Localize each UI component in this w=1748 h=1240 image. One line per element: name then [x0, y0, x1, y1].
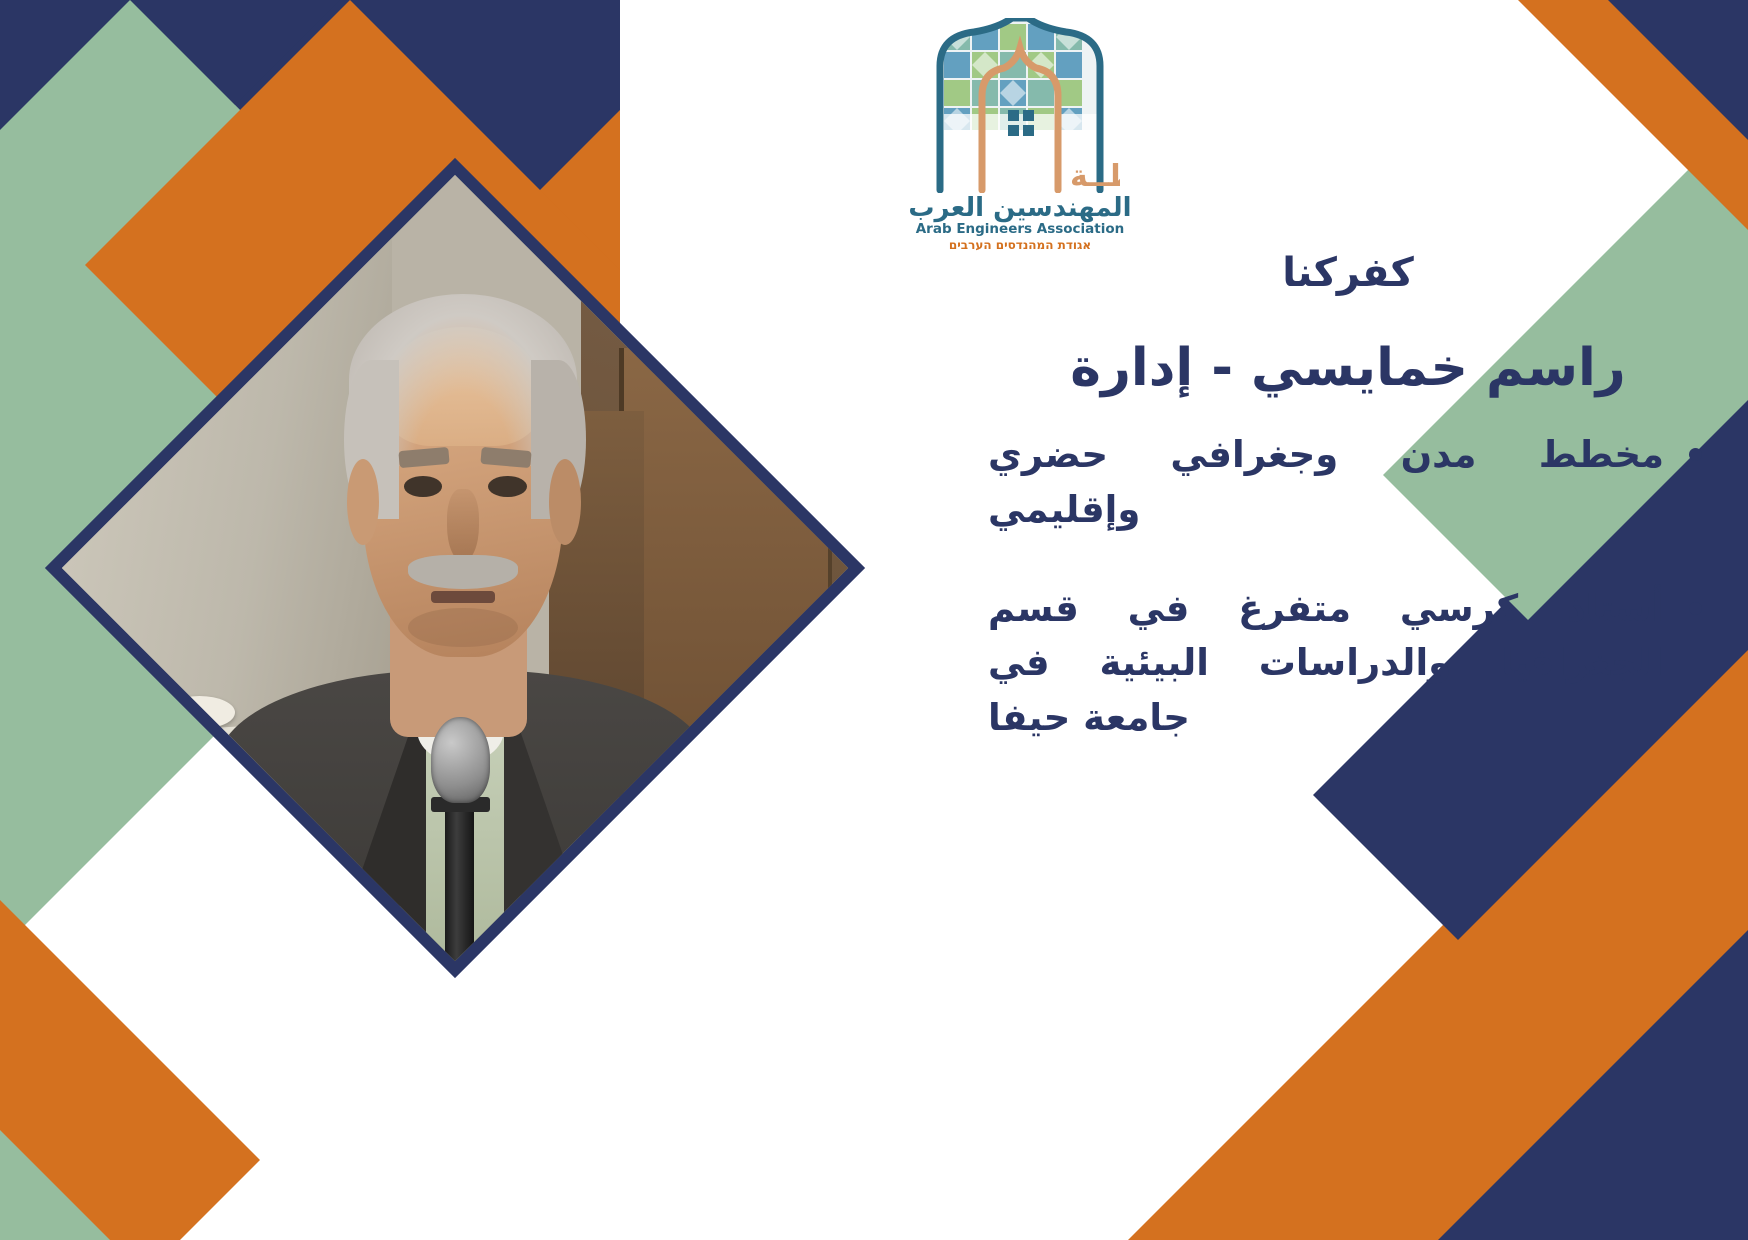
page-title: راسم خمايسي - إدارة: [988, 338, 1708, 398]
svg-text:رابطــة: رابطــة: [1070, 159, 1120, 193]
list-item: أستاذ كرسي متفرغ في قسم الجغرافيا والدرا…: [988, 582, 1708, 746]
association-logo: رابطــة المهندسين العرب Arab Engineers A…: [905, 18, 1135, 268]
list-item-text: أستاذ كرسي متفرغ في قسم الجغرافيا والدرا…: [988, 587, 1664, 740]
portrait-photo: [62, 175, 848, 961]
poster-canvas: رابطــة المهندسين العرب Arab Engineers A…: [0, 0, 1748, 1240]
list-item: مخطط مدن وجغرافي حضري وإقليمي: [988, 428, 1708, 538]
portrait-photo-frame: [35, 148, 875, 988]
content-column: كفركنا راسم خمايسي - إدارة مخطط مدن وجغر…: [988, 250, 1708, 790]
arch-mosque-logo-icon: رابطــة: [920, 18, 1120, 193]
bullet-list: مخطط مدن وجغرافي حضري وإقليمي أستاذ كرسي…: [988, 428, 1708, 746]
bullet-dot-icon: [1689, 602, 1702, 615]
logo-arabic-name: المهندسين العرب: [905, 195, 1135, 221]
logo-english-name: Arab Engineers Association: [905, 222, 1135, 237]
list-item-text: مخطط مدن وجغرافي حضري وإقليمي: [988, 433, 1664, 531]
place-label: كفركنا: [1223, 250, 1473, 296]
bullet-dot-icon: [1689, 448, 1702, 461]
